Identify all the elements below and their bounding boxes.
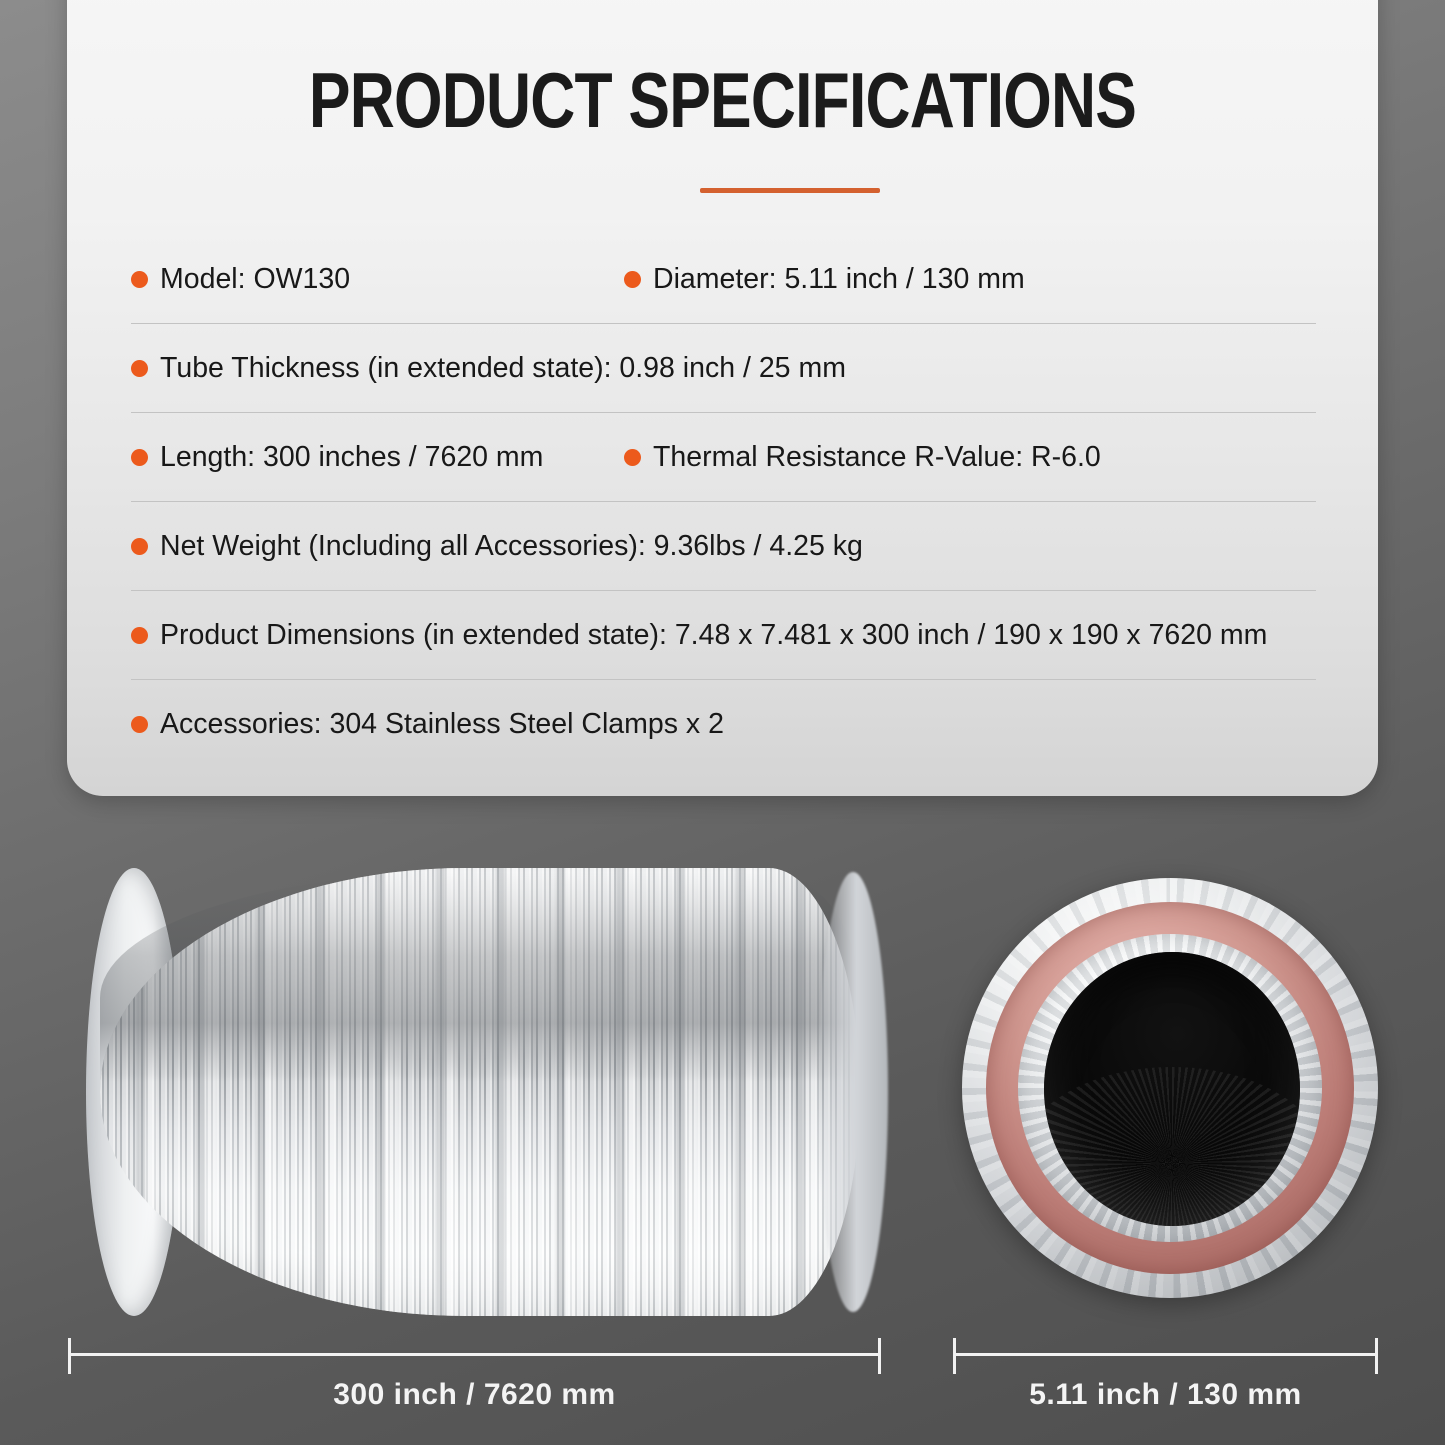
spec-item-diameter: Diameter: 5.11 inch / 130 mm: [624, 263, 1025, 296]
spec-text: Tube Thickness (in extended state): 0.98…: [160, 352, 846, 385]
spec-text: Diameter: 5.11 inch / 130 mm: [653, 263, 1025, 296]
spec-row: Product Dimensions (in extended state): …: [131, 591, 1316, 680]
product-photo-area: [0, 840, 1445, 1340]
spec-item-tube-thickness: Tube Thickness (in extended state): 0.98…: [131, 352, 846, 385]
title-underline-accent: [700, 188, 880, 193]
dimension-bar: [953, 1353, 1378, 1356]
spec-text: Model: OW130: [160, 263, 350, 296]
spec-row: Length: 300 inches / 7620 mm Thermal Res…: [131, 413, 1316, 502]
spec-text: Thermal Resistance R-Value: R-6.0: [653, 441, 1101, 474]
duct-cross-section-image: [952, 856, 1382, 1322]
spec-row: Tube Thickness (in extended state): 0.98…: [131, 324, 1316, 413]
cross-section-bore: [1044, 952, 1300, 1226]
spec-item-r-value: Thermal Resistance R-Value: R-6.0: [624, 441, 1101, 474]
length-dimension-label: 300 inch / 7620 mm: [68, 1378, 881, 1412]
bullet-icon: [131, 449, 148, 466]
bullet-icon: [131, 716, 148, 733]
spec-row: Net Weight (Including all Accessories): …: [131, 502, 1316, 591]
length-dimension-line: [68, 1338, 881, 1374]
duct-right-cap: [818, 872, 888, 1312]
specifications-list: Model: OW130 Diameter: 5.11 inch / 130 m…: [131, 235, 1316, 768]
bullet-icon: [624, 271, 641, 288]
bullet-icon: [131, 538, 148, 555]
spec-item-product-dimensions: Product Dimensions (in extended state): …: [131, 619, 1267, 652]
product-specifications-card: PRODUCT SPECIFICATIONS Model: OW130 Diam…: [67, 0, 1378, 796]
duct-coil-image: [72, 858, 882, 1324]
dimension-tick-right: [878, 1338, 881, 1374]
dimension-bar: [68, 1353, 881, 1356]
bullet-icon: [131, 360, 148, 377]
dimension-tick-left: [68, 1338, 71, 1374]
spec-item-net-weight: Net Weight (Including all Accessories): …: [131, 530, 863, 563]
spec-item-model: Model: OW130: [131, 263, 624, 296]
spec-item-accessories: Accessories: 304 Stainless Steel Clamps …: [131, 708, 724, 741]
spec-row: Model: OW130 Diameter: 5.11 inch / 130 m…: [131, 235, 1316, 324]
bullet-icon: [131, 627, 148, 644]
spec-row: Accessories: 304 Stainless Steel Clamps …: [131, 680, 1316, 768]
spec-text: Length: 300 inches / 7620 mm: [160, 441, 543, 474]
spec-text: Accessories: 304 Stainless Steel Clamps …: [160, 708, 724, 741]
spec-text: Product Dimensions (in extended state): …: [160, 619, 1267, 652]
dimension-tick-right: [1375, 1338, 1378, 1374]
spec-item-length: Length: 300 inches / 7620 mm: [131, 441, 624, 474]
dimension-tick-left: [953, 1338, 956, 1374]
diameter-dimension-line: [953, 1338, 1378, 1374]
bullet-icon: [624, 449, 641, 466]
diameter-dimension-label: 5.11 inch / 130 mm: [953, 1378, 1378, 1412]
duct-body: [100, 868, 860, 1316]
page-title: PRODUCT SPECIFICATIONS: [198, 55, 1247, 146]
spec-text: Net Weight (Including all Accessories): …: [160, 530, 863, 563]
bullet-icon: [131, 271, 148, 288]
